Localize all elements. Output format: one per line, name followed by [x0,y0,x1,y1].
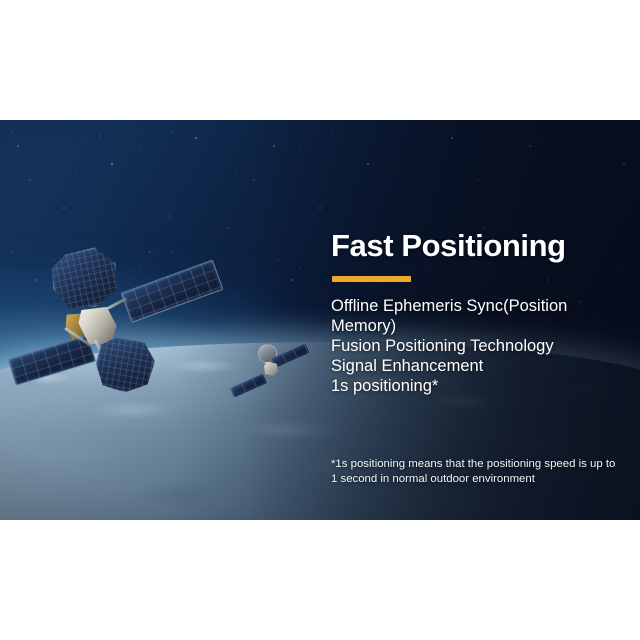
accent-divider [332,276,411,282]
page-root: Fast Positioning Offline Ephemeris Sync(… [0,0,640,640]
feature-item: Offline Ephemeris Sync(Position Memory) [331,296,627,336]
banner-title: Fast Positioning [331,228,566,264]
feature-item: 1s positioning* [331,376,627,396]
satellite-distant-icon [232,342,306,396]
footnote-text: *1s positioning means that the positioni… [331,457,621,487]
promo-banner: Fast Positioning Offline Ephemeris Sync(… [0,120,640,520]
distant-solar-panel-left-icon [229,373,269,399]
distant-satellite-body-icon [264,362,278,376]
solar-panel-right-icon [121,259,224,323]
feature-item: Fusion Positioning Technology [331,336,627,356]
feature-item: Signal Enhancement [331,356,627,376]
feature-list: Offline Ephemeris Sync(Position Memory) … [331,296,627,396]
satellite-large-icon [22,250,232,410]
